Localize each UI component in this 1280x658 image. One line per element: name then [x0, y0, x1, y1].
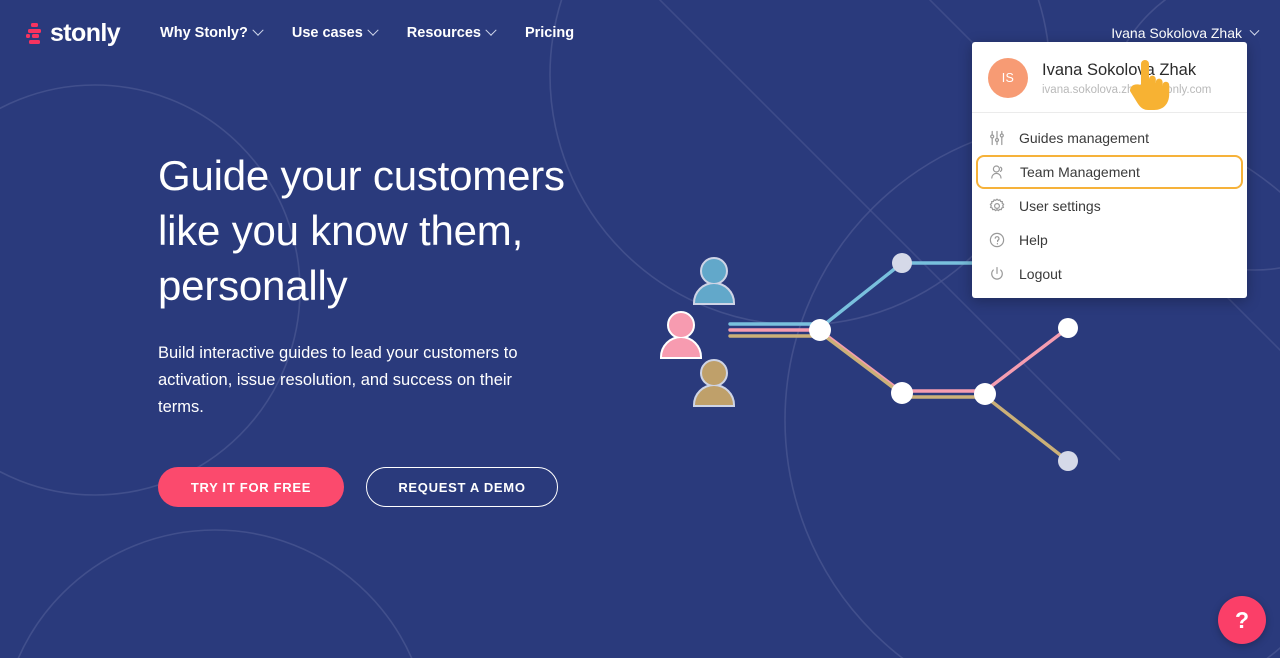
menu-item-guides-management[interactable]: Guides management	[972, 121, 1247, 155]
hero-cta-group: TRY IT FOR FREE REQUEST A DEMO	[158, 467, 678, 507]
nav-item-why-stonly[interactable]: Why Stonly?	[145, 19, 277, 47]
hero-title-line-1: Guide your customers	[158, 152, 565, 199]
person-icon	[989, 164, 1006, 181]
chevron-down-icon	[252, 25, 263, 36]
user-menu-trigger[interactable]: Ivana Sokolova Zhak	[1111, 25, 1258, 41]
hero-title-line-3: personally	[158, 262, 347, 309]
avatar-tan	[695, 361, 733, 405]
menu-item-label: User settings	[1019, 198, 1101, 214]
power-icon	[988, 266, 1005, 283]
nav-item-resources[interactable]: Resources	[392, 19, 510, 47]
sliders-icon	[988, 130, 1005, 147]
dropdown-menu-items: Guides management Team Management User s…	[972, 113, 1247, 291]
nav-item-label: Use cases	[292, 25, 363, 41]
nav-item-label: Why Stonly?	[160, 25, 248, 41]
chevron-down-icon	[485, 25, 496, 36]
menu-item-label: Team Management	[1020, 164, 1140, 180]
stonly-logo[interactable]: stonly	[26, 21, 120, 46]
dropdown-user-name: Ivana Sokolova Zhak	[1042, 60, 1211, 80]
dropdown-user-info: Ivana Sokolova Zhak ivana.sokolova.zhak@…	[1042, 60, 1211, 97]
menu-item-help[interactable]: Help	[972, 223, 1247, 257]
user-account-dropdown: IS Ivana Sokolova Zhak ivana.sokolova.zh…	[972, 42, 1247, 298]
nav-user-name: Ivana Sokolova Zhak	[1111, 25, 1242, 41]
menu-item-label: Guides management	[1019, 130, 1149, 146]
dropdown-user-email: ivana.sokolova.zhak@stonly.com	[1042, 83, 1211, 97]
nav-item-use-cases[interactable]: Use cases	[277, 19, 392, 47]
avatar-blue	[695, 259, 733, 303]
hero-section: Guide your customers like you know them,…	[158, 148, 678, 507]
hero-subtitle: Build interactive guides to lead your cu…	[158, 340, 528, 421]
question-circle-icon	[988, 232, 1005, 249]
chevron-down-icon	[367, 25, 378, 36]
page-title: Guide your customers like you know them,…	[158, 148, 678, 313]
nav-item-pricing[interactable]: Pricing	[510, 19, 589, 47]
chevron-down-icon	[1250, 25, 1260, 35]
avatar: IS	[988, 58, 1028, 98]
menu-item-label: Help	[1019, 232, 1048, 248]
try-it-for-free-button[interactable]: TRY IT FOR FREE	[158, 467, 344, 507]
menu-item-user-settings[interactable]: User settings	[972, 189, 1247, 223]
menu-item-team-management[interactable]: Team Management	[976, 155, 1243, 189]
nav-item-label: Pricing	[525, 25, 574, 41]
request-a-demo-button[interactable]: REQUEST A DEMO	[366, 467, 558, 507]
gear-icon	[988, 198, 1005, 215]
menu-item-label: Logout	[1019, 266, 1062, 282]
stonly-logo-text: stonly	[50, 21, 120, 46]
help-button[interactable]: ?	[1218, 596, 1266, 644]
dropdown-user-header: IS Ivana Sokolova Zhak ivana.sokolova.zh…	[972, 42, 1247, 113]
menu-item-logout[interactable]: Logout	[972, 257, 1247, 291]
stonly-logo-icon	[26, 23, 43, 43]
primary-nav-links: Why Stonly? Use cases Resources Pricing	[145, 19, 589, 47]
hero-title-line-2: like you know them,	[158, 207, 523, 254]
nav-item-label: Resources	[407, 25, 481, 41]
